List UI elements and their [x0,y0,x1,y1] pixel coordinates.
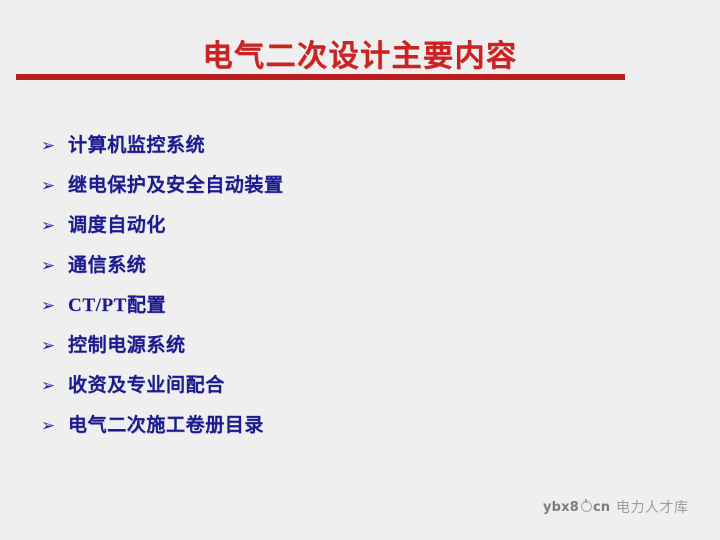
list-item-label: 通信系统 [68,254,146,278]
title-block: 电气二次设计主要内容 [0,40,720,90]
list-item: ➢ 继电保护及安全自动装置 [40,174,640,214]
list-item: ➢ 电气二次施工卷册目录 [40,414,640,454]
watermark-tld: cn [593,500,610,515]
watermark-domain: ybx8 [543,500,579,515]
list-item-label: 继电保护及安全自动装置 [68,174,284,198]
list-item: ➢ 收资及专业间配合 [40,374,640,414]
list-item-label: 电气二次施工卷册目录 [68,414,264,438]
arrow-bullet-icon: ➢ [40,174,68,198]
watermark-site-name: 电力人才库 [616,497,689,517]
list-item-label: 控制电源系统 [68,334,186,358]
bullet-list: ➢ 计算机监控系统 ➢ 继电保护及安全自动装置 ➢ 调度自动化 ➢ 通信系统 ➢… [40,134,640,454]
arrow-bullet-icon: ➢ [40,334,68,358]
slide-canvas: 电气二次设计主要内容 ➢ 计算机监控系统 ➢ 继电保护及安全自动装置 ➢ 调度自… [0,0,720,540]
title-underline-rule [16,74,625,80]
list-item: ➢ CT/PT配置 [40,294,640,334]
page-title: 电气二次设计主要内容 [0,40,720,74]
list-item: ➢ 调度自动化 [40,214,640,254]
arrow-bullet-icon: ➢ [40,294,68,318]
arrow-bullet-icon: ➢ [40,214,68,238]
list-item: ➢ 通信系统 [40,254,640,294]
list-item: ➢ 控制电源系统 [40,334,640,374]
list-item: ➢ 计算机监控系统 [40,134,640,174]
arrow-bullet-icon: ➢ [40,254,68,278]
arrow-bullet-icon: ➢ [40,414,68,438]
arrow-bullet-icon: ➢ [40,374,68,398]
arrow-bullet-icon: ➢ [40,134,68,158]
list-item-label: 收资及专业间配合 [68,374,225,398]
list-item-label: 计算机监控系统 [68,134,205,158]
list-item-label: 调度自动化 [68,214,166,238]
watermark-logo-icon [579,499,595,515]
list-item-label: CT/PT配置 [68,294,166,318]
watermark: ybx8 cn 电力人才库 [543,496,688,518]
